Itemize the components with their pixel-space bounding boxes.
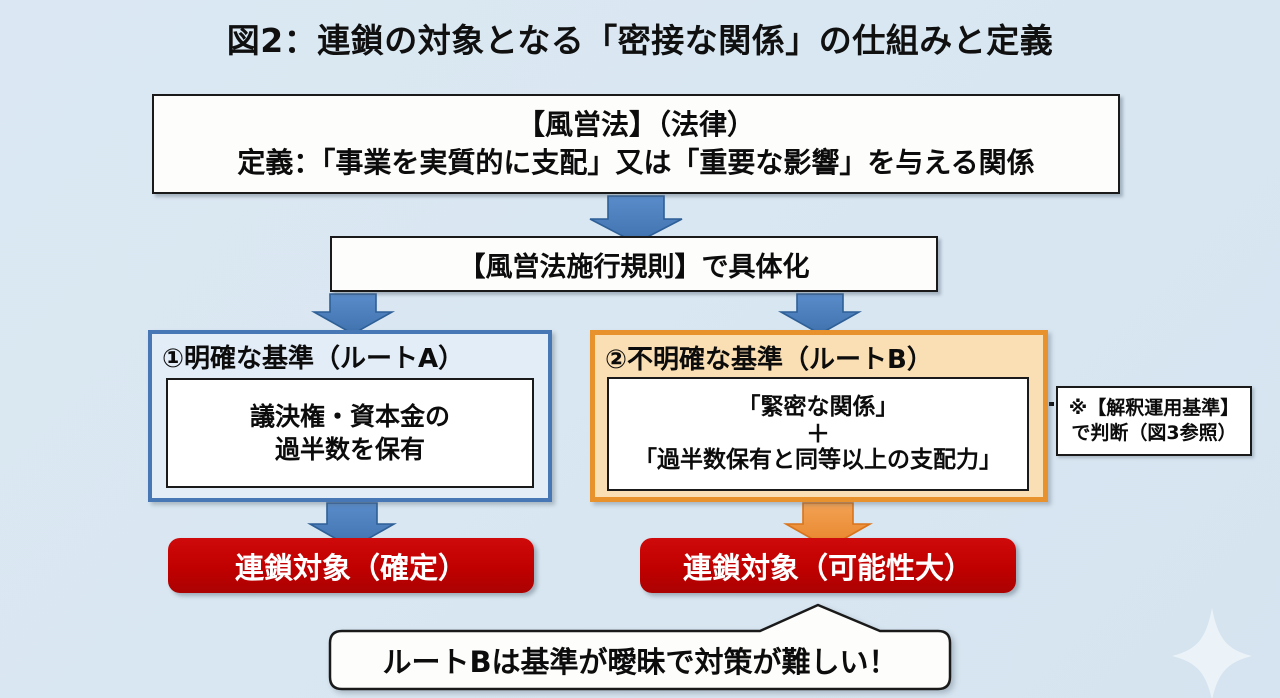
route-a-title: ①明確な基準（ルートA） xyxy=(162,338,464,375)
route-b-title: ②不明確な基準（ルートB） xyxy=(605,339,933,376)
law-box-line1: 【風営法】（法律） xyxy=(517,106,755,144)
result-box-route-a: 連鎖対象（確定） xyxy=(168,538,534,593)
sparkle-decoration xyxy=(1172,608,1252,698)
route-b-line3: 「過半数保有と同等以上の支配力」 xyxy=(634,446,1002,475)
rule-box-text: 【風営法施行規則】で具体化 xyxy=(459,245,810,284)
law-box-line2: 定義：「事業を実質的に支配」又は「重要な影響」を与える関係 xyxy=(237,144,1034,182)
callout-bubble: ルートBは基準が曖昧で対策が難しい！ xyxy=(330,615,950,689)
law-definition-box: 【風営法】（法律） 定義：「事業を実質的に支配」又は「重要な影響」を与える関係 xyxy=(152,94,1120,194)
page-title: 図2：連鎖の対象となる「密接な関係」の仕組みと定義 xyxy=(0,14,1280,62)
route-a-criteria-box: 議決権・資本金の 過半数を保有 xyxy=(166,378,534,488)
route-b-panel: ②不明確な基準（ルートB） 「緊密な関係」 ＋ 「過半数保有と同等以上の支配力」 xyxy=(590,330,1048,502)
route-b-line1: 「緊密な関係」 xyxy=(738,393,899,422)
route-b-criteria-box: 「緊密な関係」 ＋ 「過半数保有と同等以上の支配力」 xyxy=(607,377,1029,491)
route-a-line1: 議決権・資本金の xyxy=(250,400,450,433)
callout-text: ルートBは基準が曖昧で対策が難しい！ xyxy=(330,615,950,689)
side-note-line2: で判断（図3参照） xyxy=(1071,421,1236,446)
result-a-label: 連鎖対象（確定） xyxy=(235,545,467,587)
enforcement-rule-box: 【風営法施行規則】で具体化 xyxy=(330,236,938,292)
route-a-panel: ①明確な基準（ルートA） 議決権・資本金の 過半数を保有 xyxy=(148,330,552,502)
diagram-canvas: 図2：連鎖の対象となる「密接な関係」の仕組みと定義 【風営法】（法律） 定義：「… xyxy=(0,0,1280,698)
interpretation-standard-note: ※【解釈運用基準】 で判断（図3参照） xyxy=(1056,386,1252,456)
arrow-rule-to-route-a xyxy=(314,294,392,334)
side-note-line1: ※【解釈運用基準】 xyxy=(1069,396,1239,421)
route-b-plus: ＋ xyxy=(806,422,830,446)
result-box-route-b: 連鎖対象（可能性大） xyxy=(640,538,1016,593)
arrow-rule-to-route-b xyxy=(781,294,859,334)
route-a-line2: 過半数を保有 xyxy=(275,433,425,466)
result-b-label: 連鎖対象（可能性大） xyxy=(683,545,973,587)
